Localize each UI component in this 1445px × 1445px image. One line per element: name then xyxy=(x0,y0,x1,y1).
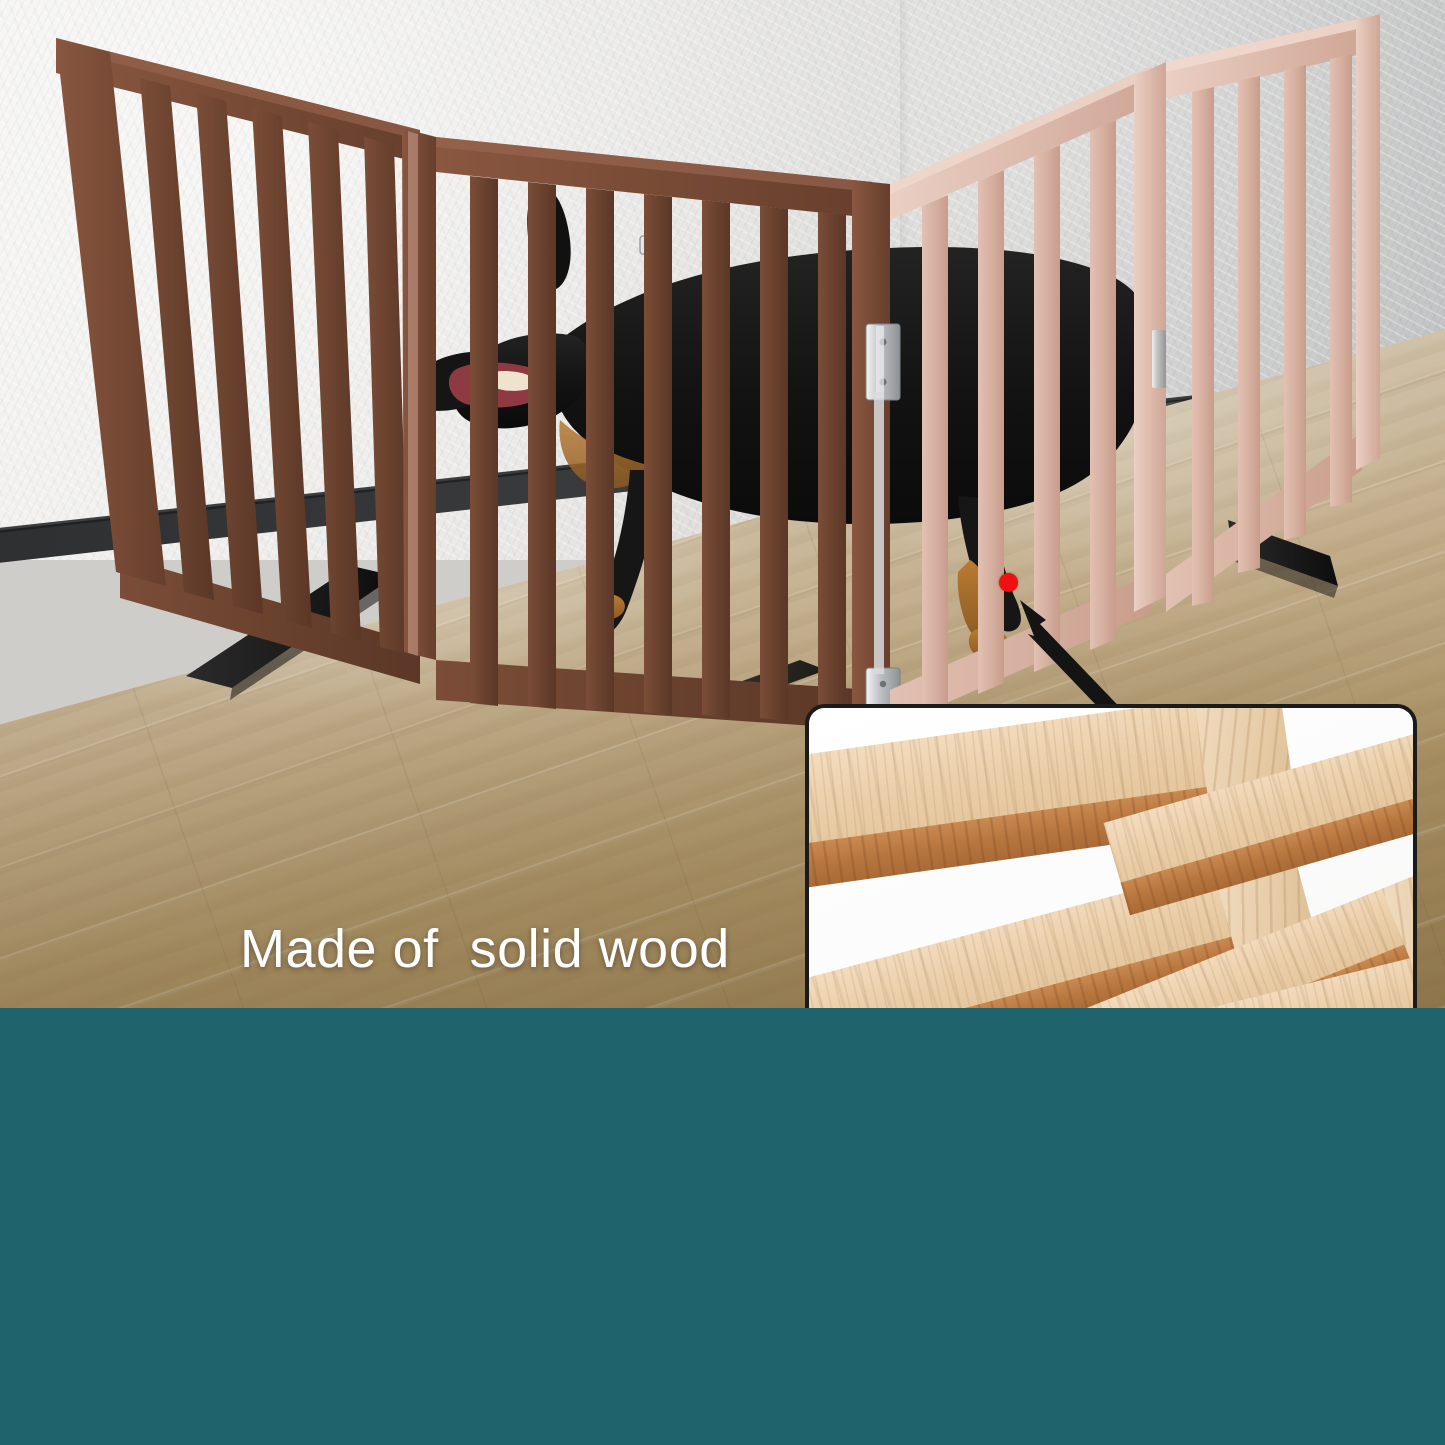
gate-hinge-upper xyxy=(866,324,900,400)
gate-panel-2 xyxy=(436,137,890,730)
callout-red-dot xyxy=(999,573,1018,592)
gate-panel-1 xyxy=(56,38,436,700)
gate-hinge-right xyxy=(1152,330,1166,388)
gate-panel-4 xyxy=(1166,14,1380,612)
gate-panel-3 xyxy=(890,62,1166,728)
features-panel: 1. Limit your pet from running around 2.… xyxy=(0,1008,1445,1445)
page-title: Made of solid wood xyxy=(240,918,730,980)
hinge-rod xyxy=(874,392,884,674)
product-infographic: Made of solid wood xyxy=(0,0,1445,1445)
